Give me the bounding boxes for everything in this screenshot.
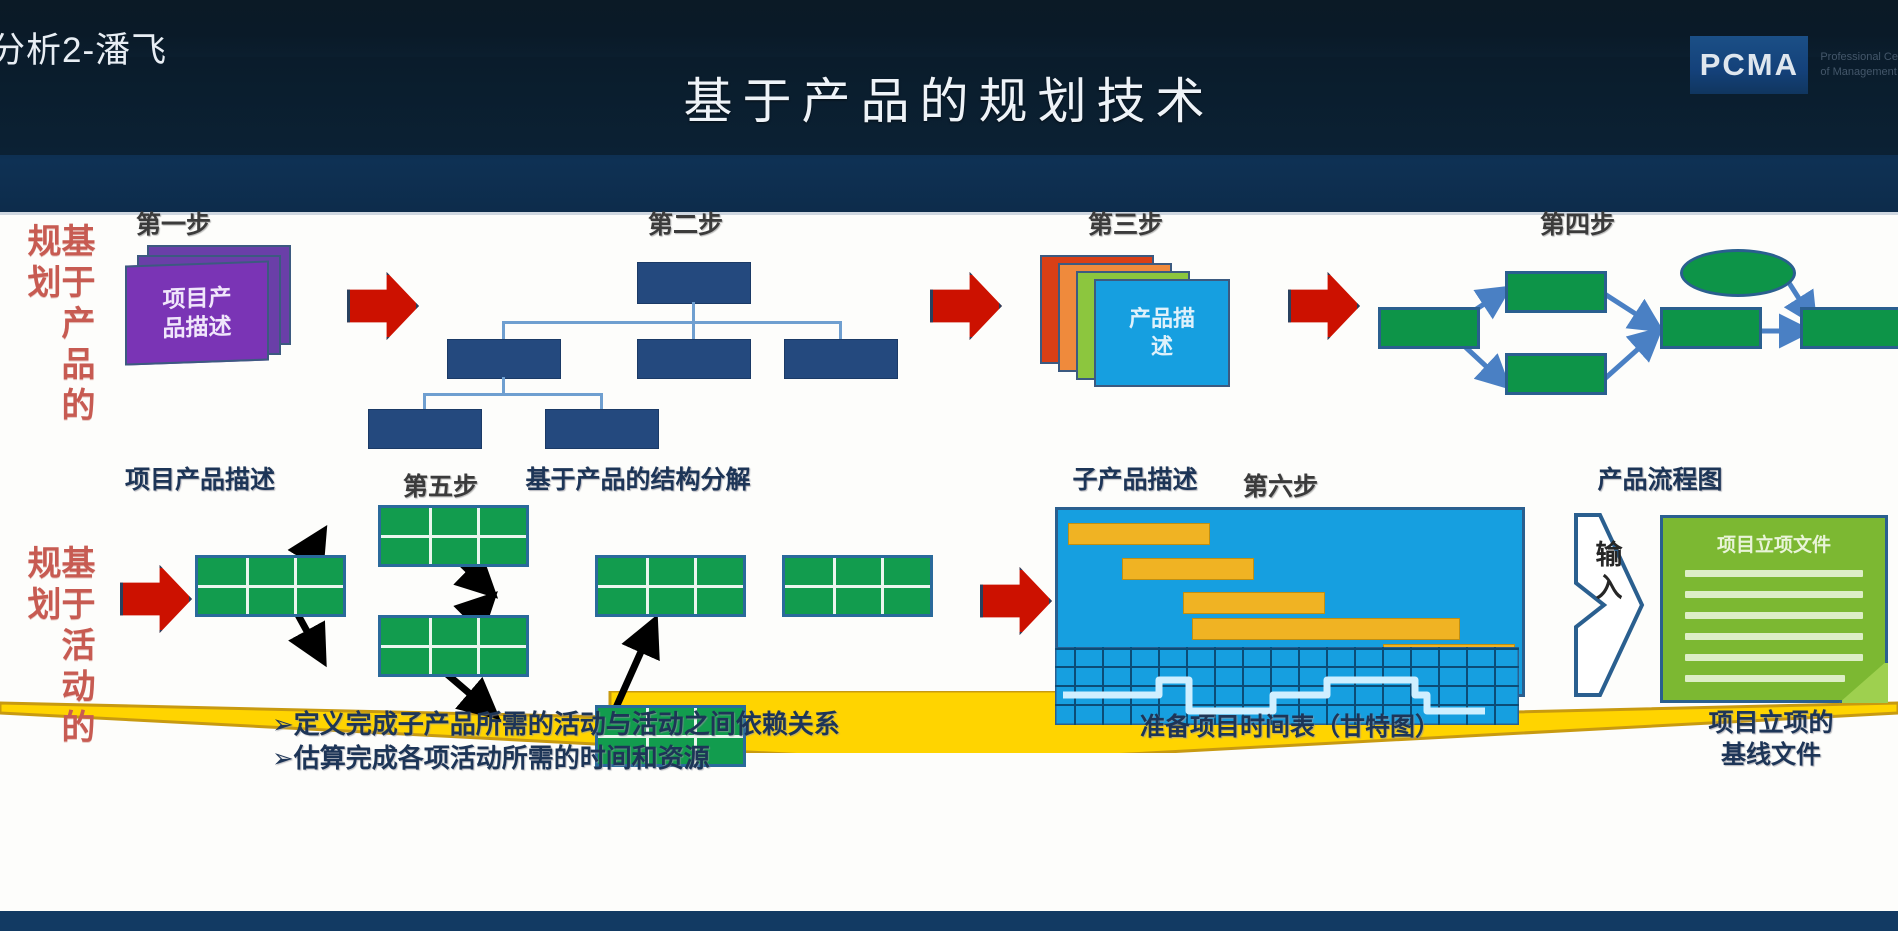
activity-node-1 <box>195 555 346 617</box>
pcma-logo-mark: PCMA <box>1690 36 1808 94</box>
arrow-step2-to-step3-icon <box>930 272 1002 340</box>
pcma-logo-text: PCMA <box>1700 47 1799 83</box>
pcma-subtitle-line2: of Management <box>1820 65 1898 80</box>
header-top-band <box>0 0 1898 57</box>
gantt-bar-2 <box>1122 558 1254 580</box>
pcma-subtitle-line1: Professional Ce <box>1820 50 1898 65</box>
input-chevron-icon <box>1570 505 1646 705</box>
wbs-link-child1-down <box>502 321 505 339</box>
gantt-bar-1 <box>1068 523 1210 545</box>
flow-node-merge <box>1660 307 1762 349</box>
wbs-node-child2 <box>637 339 751 379</box>
row2-side-label: 基于活动的规划 <box>24 545 92 775</box>
wbs-link-child1-down2 <box>502 377 505 393</box>
slide-body: 基于产品的规划 第一步 项目产 品描述 项目产品描述 第二步 基于产品的结构分解… <box>0 212 1898 914</box>
flow-node-top <box>1505 271 1607 313</box>
product-card-label: 项目产 品描述 <box>163 283 232 343</box>
document-line-4 <box>1685 633 1863 640</box>
step2-title: 第二步 <box>648 205 723 241</box>
wbs-link-level1-bus <box>502 321 842 324</box>
activity-bullet-1: ➢定义完成子产品所需的活动与活动之间依赖关系 <box>272 707 840 741</box>
subproduct-card-front: 产品描 述 <box>1094 279 1230 387</box>
wbs-link-gchild1-down <box>423 393 426 409</box>
flow-node-end <box>1800 307 1898 349</box>
wbs-node-root <box>637 262 751 304</box>
slide-header: 分析2-潘飞 基于产品的规划技术 PCMA Professional Ce of… <box>0 0 1898 212</box>
wbs-node-child3 <box>784 339 898 379</box>
wbs-node-child1 <box>447 339 561 379</box>
document-line-5 <box>1685 654 1863 661</box>
step6-caption: 准备项目时间表（甘特图） <box>1060 707 1520 743</box>
activity-bullet-2: ➢估算完成各项活动所需的时间和资源 <box>272 741 840 775</box>
wbs-link-root-down <box>692 302 695 321</box>
document-line-3 <box>1685 612 1863 619</box>
activity-node-4 <box>595 555 746 617</box>
arrow-to-gantt-icon <box>980 567 1052 635</box>
document-line-1 <box>1685 570 1863 577</box>
flow-node-ellipse <box>1680 249 1796 297</box>
activity-node-6 <box>782 555 933 617</box>
wbs-node-gchild1 <box>368 409 482 449</box>
subproduct-card-label: 产品描 述 <box>1129 305 1195 361</box>
step4-caption: 产品流程图 <box>1540 460 1780 496</box>
wbs-link-level2-bus <box>423 393 603 396</box>
document-title: 项目立项文件 <box>1663 530 1885 557</box>
slide-canvas: 分析2-潘飞 基于产品的规划技术 PCMA Professional Ce of… <box>0 0 1898 931</box>
step3-caption: 子产品描述 <box>1000 460 1270 496</box>
arrow-into-network-icon <box>120 565 192 633</box>
document-line-6 <box>1685 675 1845 682</box>
arrow-step1-to-step2-icon <box>347 272 419 340</box>
arrow-step3-to-step4-icon <box>1288 272 1360 340</box>
document-caption: 项目立项的 基线文件 <box>1660 707 1882 771</box>
gantt-bar-3 <box>1183 592 1325 614</box>
page-title: 基于产品的规划技术 <box>0 62 1898 133</box>
project-charter-document: 项目立项文件 <box>1660 515 1888 703</box>
pcma-logo-subtitle: Professional Ce of Management <box>1808 36 1898 94</box>
activity-bullets: ➢定义完成子产品所需的活动与活动之间依赖关系 ➢估算完成各项活动所需的时间和资源 <box>272 707 840 775</box>
input-label: 输入 <box>1589 539 1629 605</box>
document-fold-corner-icon <box>1839 660 1888 703</box>
pcma-logo: PCMA Professional Ce of Management <box>1690 36 1898 94</box>
product-description-card: 项目产 品描述 <box>125 260 269 365</box>
slide-footer-bar <box>0 911 1898 931</box>
document-caption-line1: 项目立项的 <box>1660 707 1882 739</box>
wbs-node-gchild2 <box>545 409 659 449</box>
document-caption-line2: 基线文件 <box>1660 739 1882 771</box>
wbs-link-child2-down <box>692 321 695 339</box>
activity-node-2 <box>378 505 529 567</box>
wbs-link-gchild2-down <box>600 393 603 409</box>
flow-node-bottom <box>1505 353 1607 395</box>
gantt-bar-4 <box>1192 618 1460 640</box>
flow-node-start <box>1378 307 1480 349</box>
document-line-2 <box>1685 591 1863 598</box>
wbs-link-child3-down <box>839 321 842 339</box>
step6-title: 第六步 <box>1243 467 1318 503</box>
step3-title: 第三步 <box>1088 205 1163 241</box>
step1-title: 第一步 <box>136 205 211 241</box>
row1-side-label: 基于产品的规划 <box>24 223 92 453</box>
activity-node-3 <box>378 615 529 677</box>
